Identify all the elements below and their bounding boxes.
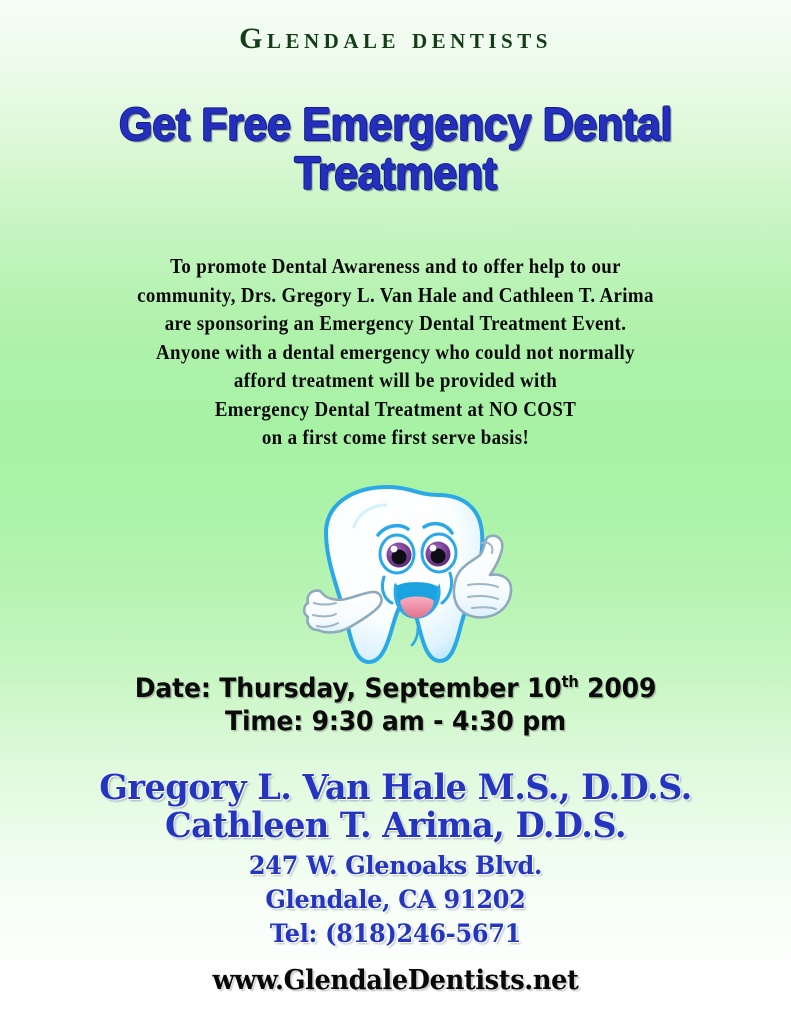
body-line: are sponsoring an Emergency Dental Treat… [40, 309, 752, 338]
practice-name-header: Glendale Dentists [0, 24, 791, 54]
event-date-prefix: Date: Thursday, September 10 [135, 673, 562, 704]
body-line: Anyone with a dental emergency who could… [40, 338, 752, 367]
body-line: community, Drs. Gregory L. Van Hale and … [40, 281, 752, 310]
phone-number[interactable]: Tel: (818)246-5671 [16, 917, 775, 951]
eye-highlight-right [430, 545, 437, 552]
body-line: To promote Dental Awareness and to offer… [40, 252, 752, 281]
doctor-name: Cathleen T. Arima, D.D.S. [16, 807, 775, 845]
chin-crease [412, 627, 418, 645]
address-city-state-zip: Glendale, CA 91202 [16, 883, 775, 917]
flyer-poster: Glendale Dentists Get Free Emergency Den… [0, 0, 791, 1024]
doctor-name: Gregory L. Van Hale M.S., D.D.S. [16, 769, 775, 807]
event-datetime: Date: Thursday, September 10th 2009 Time… [28, 672, 764, 738]
body-line: Emergency Dental Treatment at NO COST [40, 395, 752, 424]
doctor-names: Gregory L. Van Hale M.S., D.D.S. Cathlee… [16, 769, 775, 845]
practice-address: 247 W. Glenoaks Blvd. Glendale, CA 91202… [16, 849, 775, 951]
body-line: on a first come first serve basis! [40, 423, 752, 452]
address-street: 247 W. Glenoaks Blvd. [16, 849, 775, 883]
body-line: afford treatment will be provided with [40, 366, 752, 395]
event-date-year: 2009 [579, 673, 657, 704]
event-time-line: Time: 9:30 am - 4:30 pm [28, 705, 764, 738]
event-date-line: Date: Thursday, September 10th 2009 [28, 672, 764, 705]
smiling-tooth-thumbs-up-icon [292, 481, 528, 667]
event-date-ordinal: th [562, 672, 579, 691]
page-title: Get Free Emergency Dental Treatment [24, 100, 768, 198]
website-url[interactable]: www.GlendaleDentists.net [20, 965, 771, 997]
body-copy: To promote Dental Awareness and to offer… [40, 252, 752, 452]
eye-highlight-left [391, 546, 398, 553]
